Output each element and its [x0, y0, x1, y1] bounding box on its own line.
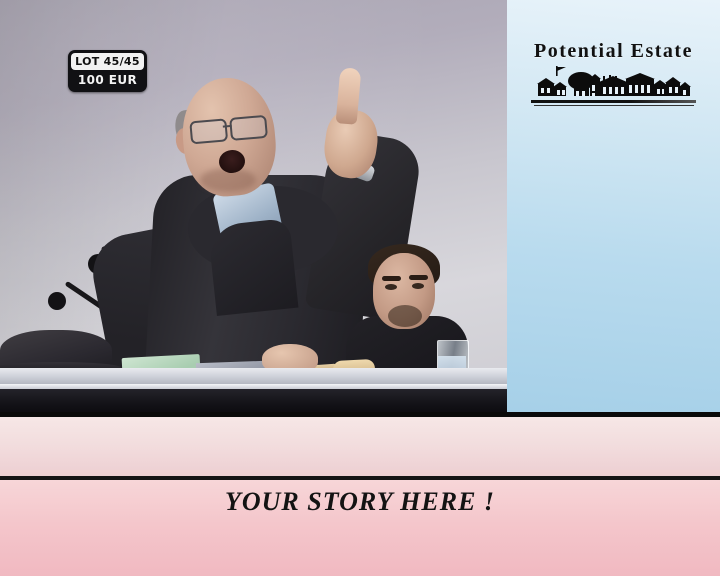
lot-number-label: LOT 45/45 [71, 53, 144, 70]
lot-price-label: 100 EUR [71, 71, 144, 88]
lot-badge: LOT 45/45 100 EUR [68, 50, 147, 92]
brand-divider [531, 100, 696, 103]
assistant-eye-right [412, 283, 424, 289]
microphone-head-secondary-icon [48, 292, 66, 310]
estate-mansion-silhouette-icon [534, 65, 694, 99]
video-pane[interactable]: LOT 45/45 100 EUR [0, 0, 507, 415]
sidebar: Potential Estate [507, 0, 720, 412]
broadcast-frame: LOT 45/45 100 EUR Potential Estate [0, 0, 720, 576]
story-headline: YOUR STORY HERE ! [0, 480, 720, 524]
assistant-brow-right [409, 275, 428, 280]
pink-spacer-band [0, 417, 720, 476]
assistant-eye-left [385, 284, 397, 290]
auctioneer-sweater [208, 218, 299, 316]
assistant-brow-left [382, 276, 401, 281]
brand-block: Potential Estate [507, 40, 720, 106]
brand-title: Potential Estate [507, 40, 720, 63]
brand-divider-thin [534, 105, 694, 106]
lens-left [189, 118, 228, 144]
lens-right [229, 115, 268, 141]
assistant-beard [388, 305, 422, 327]
